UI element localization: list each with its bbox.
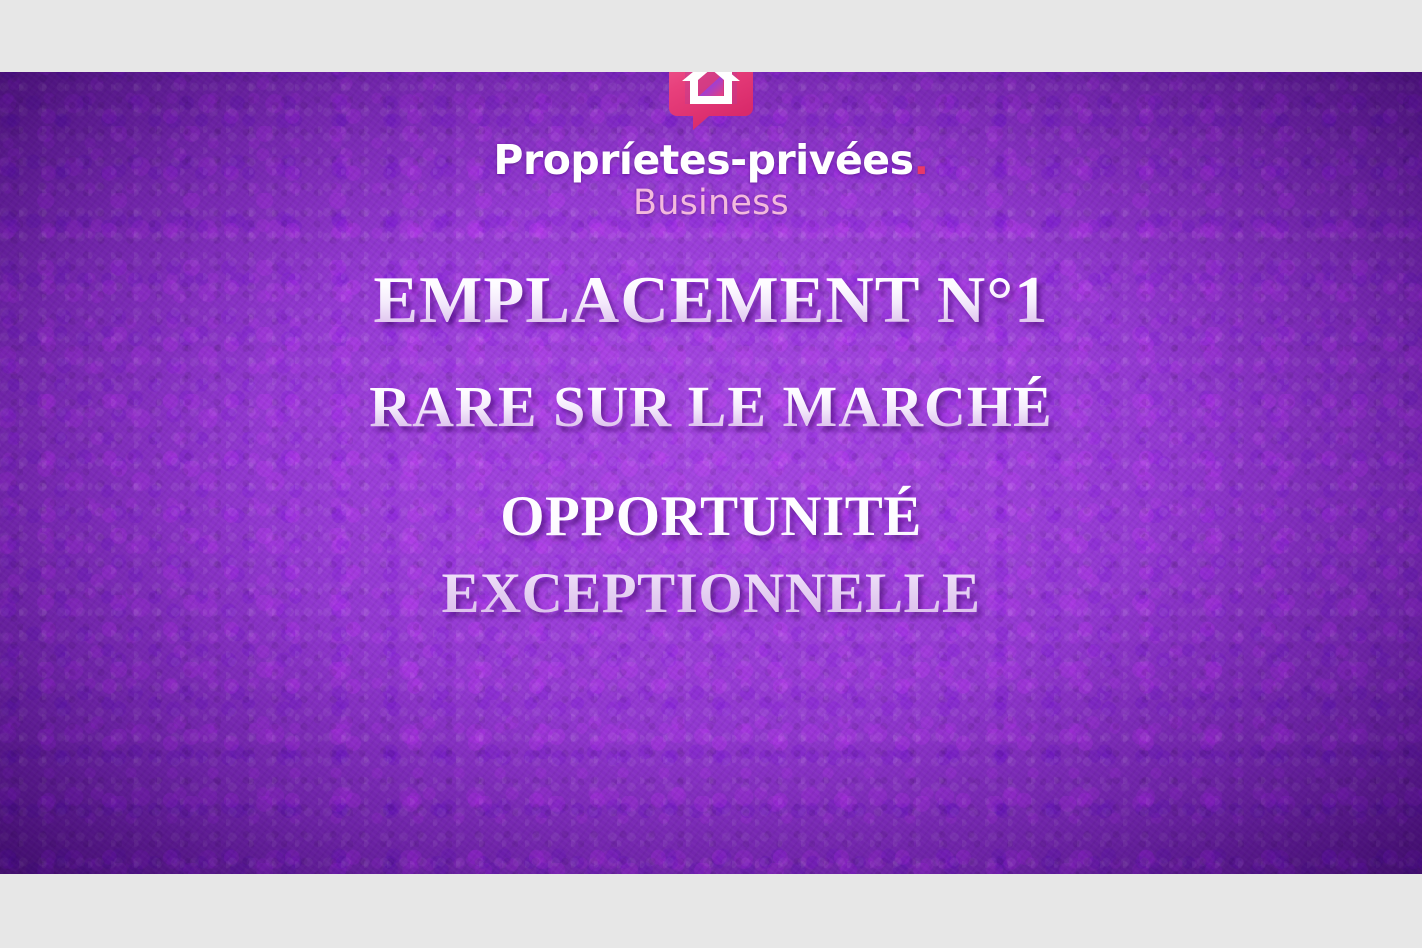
headline-stack: EMPLACEMENT N°1 RARE SUR LE MARCHÉ OPPOR… — [0, 265, 1422, 633]
brand-name: Propríetes-privées — [493, 136, 913, 184]
letterbox-bottom — [0, 874, 1422, 948]
slide-image: Propríetes-privées. Business EMPLACEMENT… — [0, 0, 1422, 948]
brand-name-dot: . — [913, 136, 928, 184]
letterbox-top — [0, 0, 1422, 72]
slide-content: Propríetes-privées. Business EMPLACEMENT… — [0, 0, 1422, 948]
brand-subtitle: Business — [633, 186, 789, 221]
headline-primary: EMPLACEMENT N°1 — [373, 265, 1048, 336]
headline-tertiary: OPPORTUNITÉ EXCEPTIONNELLE — [391, 479, 1031, 633]
headline-secondary: RARE SUR LE MARCHÉ — [369, 376, 1052, 437]
brand-wordmark: Propríetes-privées. — [493, 140, 928, 181]
